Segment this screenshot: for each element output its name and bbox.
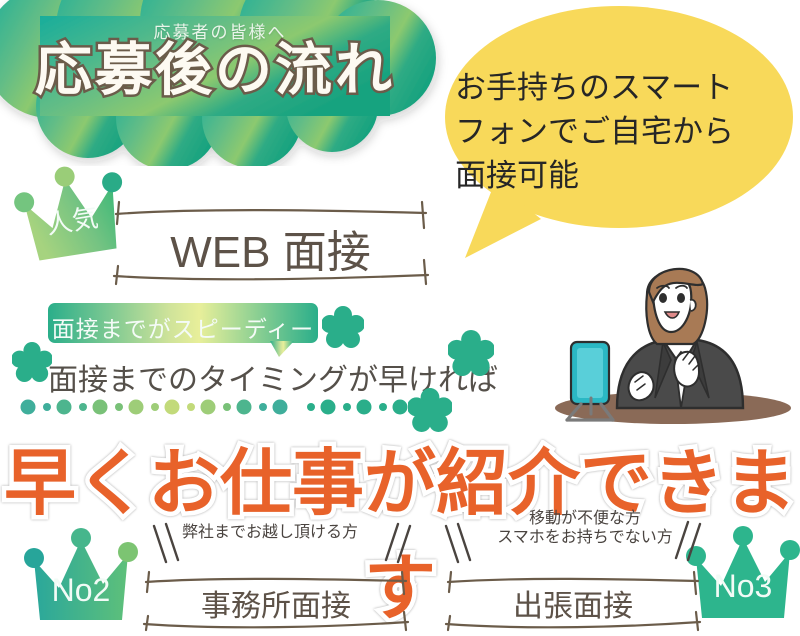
option-box-web: WEB 面接 <box>108 200 433 284</box>
option-box-onsite: 出張面接 <box>442 572 704 630</box>
illustration-woman-video-interview <box>545 248 800 428</box>
crown-no2-label: No2 <box>18 572 144 609</box>
decorative-dot <box>201 400 216 415</box>
bubble-text: お手持ちのスマート フォンでご自宅から 面接可能 <box>455 66 785 198</box>
flower-icon <box>12 342 52 382</box>
speedy-tag: 面接までがスピーディー <box>48 303 318 343</box>
bubble-line-1: お手持ちのスマート <box>455 66 785 110</box>
crown-no2: No2 <box>18 528 144 628</box>
decorative-dot <box>379 403 387 411</box>
decorative-dot <box>21 400 36 415</box>
decorative-dot <box>357 400 372 415</box>
info-speech-bubble: お手持ちのスマート フォンでご自宅から 面接可能 <box>437 4 793 266</box>
page-title: 応募後の流れ <box>0 38 430 104</box>
slash-marks-right-no3 <box>672 516 706 566</box>
decorative-dot <box>237 400 252 415</box>
decorative-dot <box>79 403 87 411</box>
decorative-dot <box>93 400 108 415</box>
option-box-office: 事務所面接 <box>140 572 412 630</box>
speedy-tag-label: 面接までがスピーディー <box>48 310 318 344</box>
decorative-dot <box>393 400 408 415</box>
decorative-dot <box>165 400 180 415</box>
decorative-dot <box>307 403 315 411</box>
slash-marks-left-no2 <box>148 520 182 568</box>
decorative-dot <box>259 403 267 411</box>
bubble-line-2: フォンでご自宅から <box>455 110 785 154</box>
poster-root: 応募者の皆様へ 応募後の流れ お手持ちのスマート フォンでご自宅から 面接可能 <box>0 0 800 636</box>
decorative-dot <box>57 400 72 415</box>
flower-icon <box>322 306 364 348</box>
decorative-dot <box>151 403 159 411</box>
decorative-dot <box>187 403 195 411</box>
decorative-dot <box>415 403 423 411</box>
decorative-dot <box>223 403 231 411</box>
decorative-dot <box>343 403 351 411</box>
decorative-dot <box>115 403 123 411</box>
option-box-web-label: WEB 面接 <box>108 216 433 280</box>
decorative-dot <box>321 400 336 415</box>
flower-icon <box>448 330 494 376</box>
bubble-line-3: 面接可能 <box>455 154 785 198</box>
decorative-dot <box>129 400 144 415</box>
decorative-dot <box>43 403 51 411</box>
slash-marks-left-no3 <box>440 518 474 568</box>
slash-marks-right-no2 <box>382 520 416 568</box>
option-box-onsite-label: 出張面接 <box>442 581 704 625</box>
decorative-dot-row <box>18 396 478 418</box>
decorative-dot <box>273 400 288 415</box>
option-box-office-label: 事務所面接 <box>140 581 412 625</box>
